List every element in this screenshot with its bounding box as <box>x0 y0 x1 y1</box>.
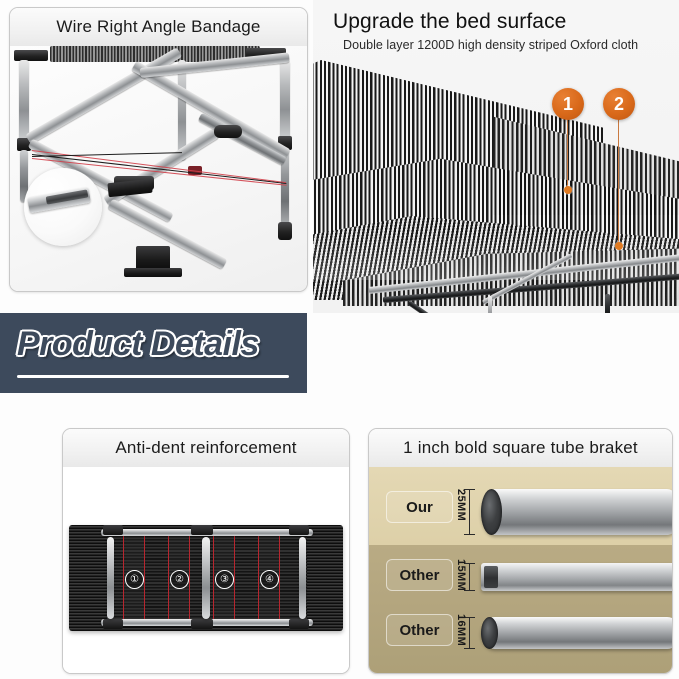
panel-wire-title: Wire Right Angle Bandage <box>56 17 260 37</box>
tube-row-other1-dimension: 15MM <box>455 559 467 591</box>
tube-row-other2-dimcap-bottom <box>464 648 475 649</box>
rail-clip-lower-mid <box>191 619 213 629</box>
dent-marker-2[interactable]: ② <box>170 570 189 589</box>
panel-dent-title: Anti-dent reinforcement <box>115 438 296 458</box>
fabric-highlight <box>313 230 679 280</box>
panel-tube-header: 1 inch bold square tube braket <box>369 429 672 468</box>
rail-clip-lower-left <box>103 619 123 629</box>
tube-row-our-pipe-cap <box>481 489 502 535</box>
marker-2[interactable]: 2 <box>603 88 635 120</box>
leg-right-foot <box>278 222 292 240</box>
dent-marker-3[interactable]: ③ <box>215 570 234 589</box>
frame-leg-center <box>488 296 492 313</box>
infographic-root: 1 2 Upgrade the bed surface Double layer… <box>0 0 679 679</box>
tube-row-other2-dimension: 16MM <box>455 614 467 646</box>
tube-row-our-label[interactable]: Our <box>386 491 453 523</box>
hero-title: Upgrade the bed surface <box>333 10 566 34</box>
marker-1-point <box>564 186 572 194</box>
mesh-bracket-left <box>14 50 48 61</box>
foot-bottom <box>136 246 170 270</box>
panel-wire-header: Wire Right Angle Bandage <box>10 8 307 47</box>
panel-dent-header: Anti-dent reinforcement <box>63 429 349 468</box>
tube-row-our-pipe <box>481 489 672 535</box>
tube-row-other2-pipe-cap <box>481 617 498 649</box>
rail-clip-upper-mid <box>191 525 213 535</box>
panel-dent-body: ① ② ③ ④ <box>63 467 349 673</box>
rail-clip-lower-right <box>289 619 309 629</box>
wire-illustration <box>10 46 307 291</box>
anti-dent-illustration: ① ② ③ ④ <box>63 467 349 673</box>
panel-tube-body: Our 25MM Other 15MM Other 16MM <box>369 467 672 673</box>
leg-hinge-right <box>299 537 306 619</box>
leg-left <box>19 60 29 142</box>
pivot-bracket-upper-right <box>214 125 242 138</box>
leg-right <box>280 60 290 140</box>
dent-marker-1[interactable]: ① <box>125 570 144 589</box>
marker-1[interactable]: 1 <box>552 88 584 120</box>
tube-row-our-dimension: 25MM <box>455 489 467 521</box>
leg-hinge-left <box>107 537 114 619</box>
product-details-text: Product Details <box>17 325 259 364</box>
panel-wire-right-angle-bandage: Wire Right Angle Bandage <box>9 7 308 292</box>
tube-row-other2-label[interactable]: Other <box>386 614 453 646</box>
foot-bottom-plate <box>124 268 182 277</box>
tube-row-other1-pipe <box>481 563 672 591</box>
tube-row-other1-pipe-cap <box>484 566 498 588</box>
rail-clip-upper-left <box>103 525 123 535</box>
marker-2-leader-line <box>618 118 619 246</box>
dent-marker-4[interactable]: ④ <box>260 570 279 589</box>
banner-underline <box>17 375 289 378</box>
hero-bed-surface-section: 1 2 Upgrade the bed surface Double layer… <box>313 0 679 313</box>
tube-row-other1-label[interactable]: Other <box>386 559 453 591</box>
leg-hinge-center <box>202 537 210 619</box>
marker-1-leader-line <box>567 118 568 190</box>
panel-tube-title: 1 inch bold square tube braket <box>403 438 638 458</box>
panel-wire-body <box>10 46 307 291</box>
tube-row-other1-dimline <box>469 563 470 591</box>
hero-subtitle: Double layer 1200D high density striped … <box>343 38 638 52</box>
tube-row-our-dimline <box>469 489 470 535</box>
tube-row-other2-pipe <box>481 617 672 649</box>
product-details-banner: Product Details <box>0 313 307 393</box>
tube-row-our-dimcap-bottom <box>464 534 475 535</box>
marker-2-point <box>615 242 623 250</box>
tube-row-other2-dimline <box>469 617 470 649</box>
rail-clip-upper-right <box>289 525 309 535</box>
panel-square-tube-braket: 1 inch bold square tube braket Our 25MM … <box>368 428 673 674</box>
frame-leg-right <box>605 294 610 313</box>
panel-anti-dent-reinforcement: Anti-dent reinforcement <box>62 428 350 674</box>
